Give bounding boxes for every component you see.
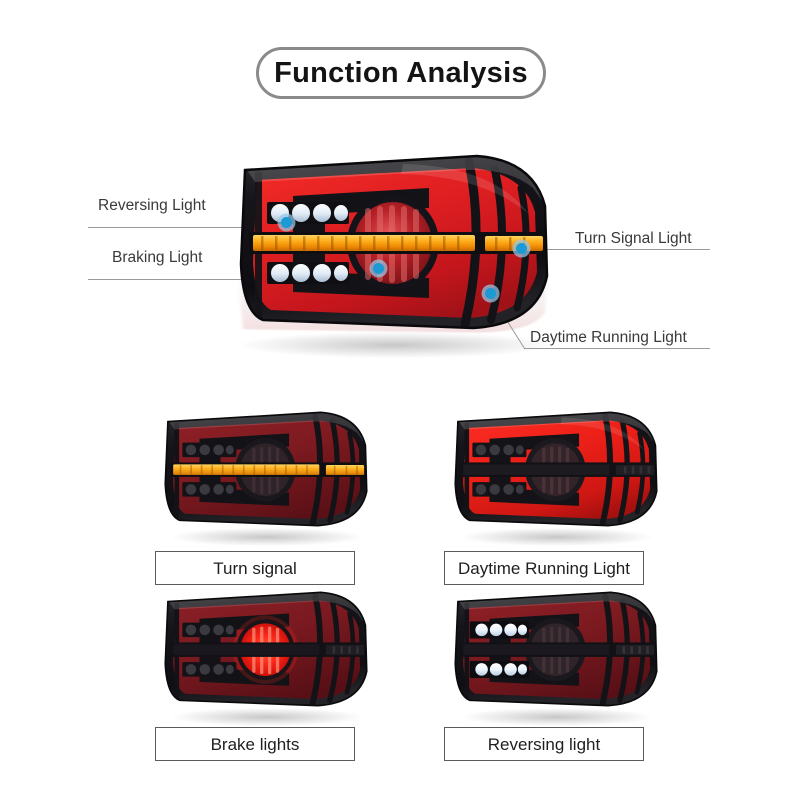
caption-text-daytime-running-light: Daytime Running Light	[458, 560, 630, 577]
leader-line-turn-signal-light	[530, 249, 710, 250]
caption-text-brake-lights: Brake lights	[211, 736, 300, 753]
callout-label-reversing-light: Reversing Light	[98, 198, 206, 214]
marker-dot-reversing-light	[281, 217, 292, 228]
marker-dot-daytime-running-light	[485, 288, 496, 299]
leader-line-daytime-running-light	[524, 348, 710, 349]
page-title-pill: Function Analysis	[256, 47, 546, 99]
caption-box-daytime-running-light: Daytime Running Light	[444, 551, 644, 585]
function-analysis-infographic: Function Analysis	[0, 0, 800, 800]
caption-box-brake-lights: Brake lights	[155, 727, 355, 761]
main-tail-light-image	[233, 148, 555, 336]
marker-dot-braking-light	[373, 263, 384, 274]
caption-text-reversing-light: Reversing light	[488, 736, 600, 753]
page-title: Function Analysis	[274, 59, 528, 88]
variant-lamp-turn-signal	[160, 405, 372, 533]
caption-text-turn-signal: Turn signal	[213, 560, 296, 577]
callout-label-turn-signal-light: Turn Signal Light	[575, 231, 692, 247]
callout-label-braking-light: Braking Light	[112, 250, 202, 266]
variant-lamp-reversing-light	[450, 585, 662, 713]
caption-box-reversing-light: Reversing light	[444, 727, 644, 761]
variant-lamp-daytime-running-light	[450, 405, 662, 533]
marker-dot-turn-signal-light	[516, 243, 527, 254]
caption-box-turn-signal: Turn signal	[155, 551, 355, 585]
variant-lamp-brake-lights	[160, 585, 372, 713]
